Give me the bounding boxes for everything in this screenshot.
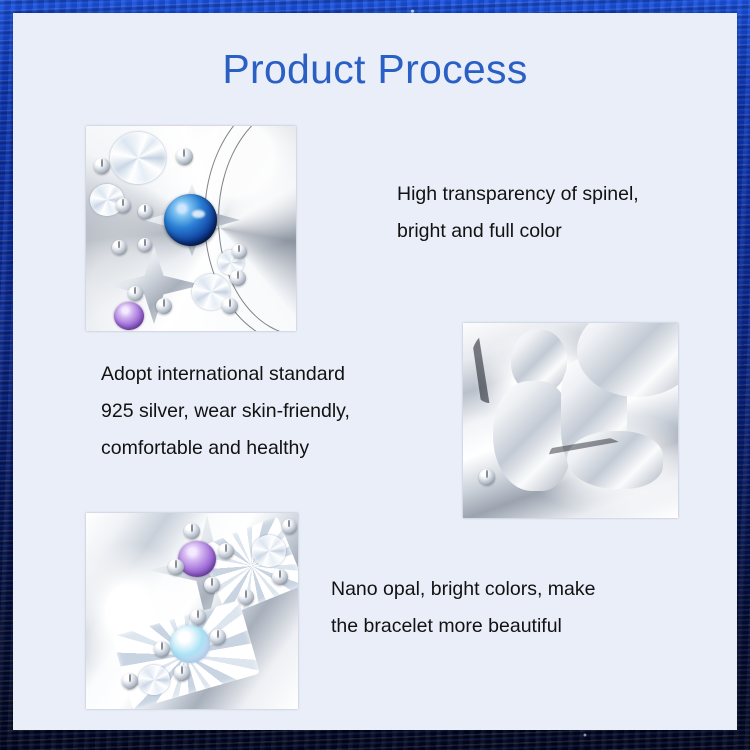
nano-opal-photo-scene — [86, 513, 298, 709]
silver-bead — [122, 673, 138, 689]
silver-bead — [138, 204, 153, 219]
feature-image-silver — [463, 323, 678, 518]
silver-bead — [210, 629, 226, 645]
feature-image-nano-opal — [86, 513, 298, 709]
silver-bead — [94, 158, 110, 174]
cz-stone-large — [110, 132, 166, 184]
purple-gemstone — [114, 302, 144, 330]
page-title: Product Process — [13, 46, 737, 93]
feature-image-spinel — [86, 126, 296, 331]
blue-nano-opal-stone — [170, 625, 210, 663]
silver-photo-scene — [463, 323, 678, 518]
silver-bead — [174, 665, 190, 681]
silver-bead — [176, 148, 193, 165]
silver-bead — [230, 270, 246, 286]
cz-stone-right — [252, 535, 286, 567]
silver-bead — [190, 609, 206, 625]
feature-text-spinel: High transparency of spinel, bright and … — [397, 176, 717, 250]
silver-body-form — [493, 381, 571, 491]
spinel-photo-scene — [86, 126, 296, 331]
silver-bead — [282, 519, 297, 534]
silver-bead — [128, 286, 143, 301]
blue-spinel-gemstone — [164, 194, 217, 246]
silver-bead — [222, 298, 238, 314]
silver-bead — [154, 641, 170, 657]
silver-bead — [272, 569, 288, 585]
purple-amethyst-stone — [178, 541, 216, 577]
silver-bead — [168, 559, 184, 575]
silver-bead — [156, 298, 172, 314]
cz-stone-bottom-left — [138, 665, 170, 695]
silver-bead — [116, 198, 131, 213]
silver-bead — [238, 589, 254, 605]
silver-bead — [218, 543, 234, 559]
product-process-poster: Product Process — [0, 0, 750, 750]
silver-bead — [112, 240, 127, 255]
silver-bead — [184, 523, 200, 539]
silver-bead — [479, 469, 495, 485]
silver-bead — [232, 244, 247, 259]
feature-text-nano-opal: Nano opal, bright colors, make the brace… — [331, 571, 691, 645]
silver-bead — [138, 238, 152, 252]
silver-bead — [204, 577, 220, 593]
content-panel: Product Process — [13, 13, 737, 730]
feature-text-silver: Adopt international standard 925 silver,… — [101, 356, 441, 467]
